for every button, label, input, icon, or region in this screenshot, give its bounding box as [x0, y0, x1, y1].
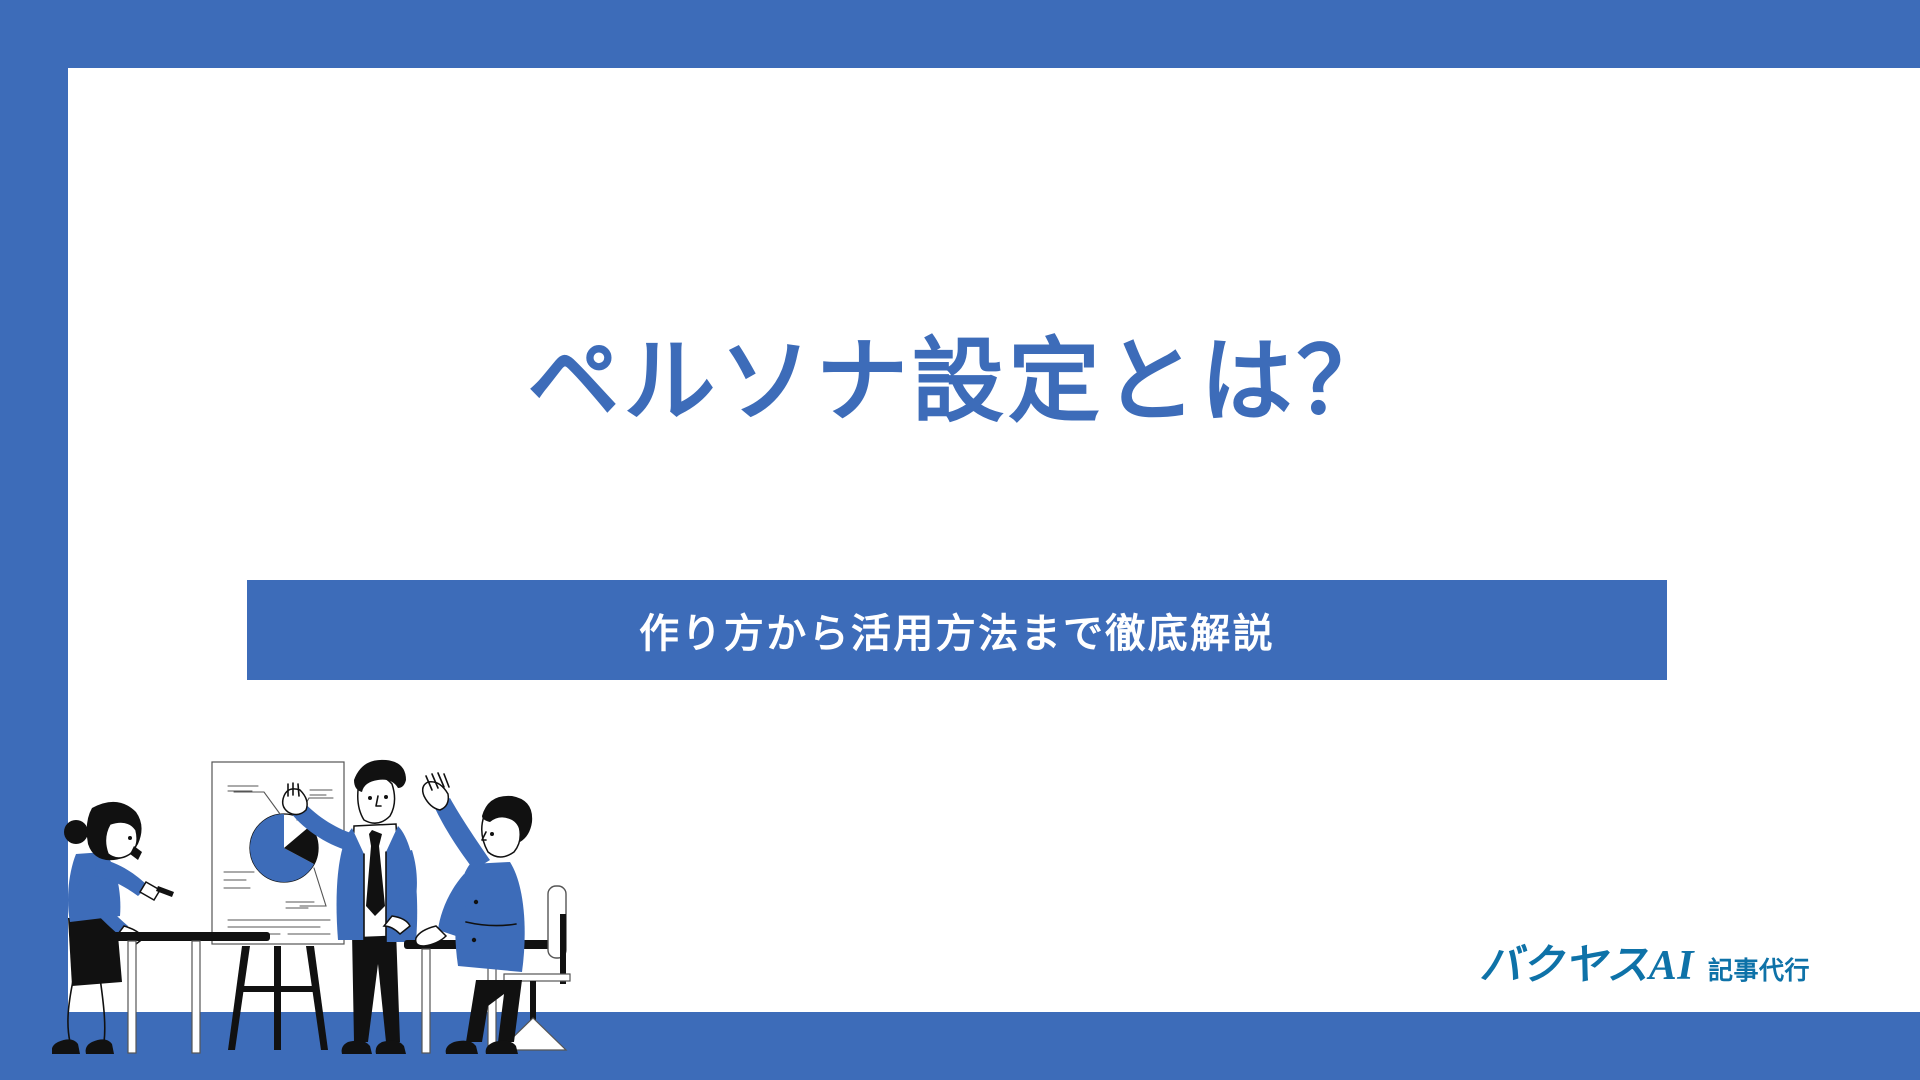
- business-team-illustration: .bl { fill:#3D6CB9; } .dk { fill:#111111…: [52, 750, 752, 1080]
- subtitle-banner: 作り方から活用方法まで徹底解説: [247, 580, 1667, 680]
- subtitle-text: 作り方から活用方法まで徹底解説: [639, 601, 1275, 659]
- slide-canvas: ペルソナ設定とは？ 作り方から活用方法まで徹底解説 .bl { fill:#3D…: [0, 0, 1920, 1080]
- page-title: ペルソナ設定とは？: [0, 330, 1920, 436]
- brand-logo: バクヤスAI 記事代行: [1479, 931, 1810, 992]
- logo-primary-text: バクヤスAI: [1479, 931, 1694, 992]
- woman-pointing-at-chart: [52, 802, 174, 1054]
- easel-flipchart: [212, 762, 344, 1050]
- logo-secondary-text: 記事代行: [1708, 951, 1810, 987]
